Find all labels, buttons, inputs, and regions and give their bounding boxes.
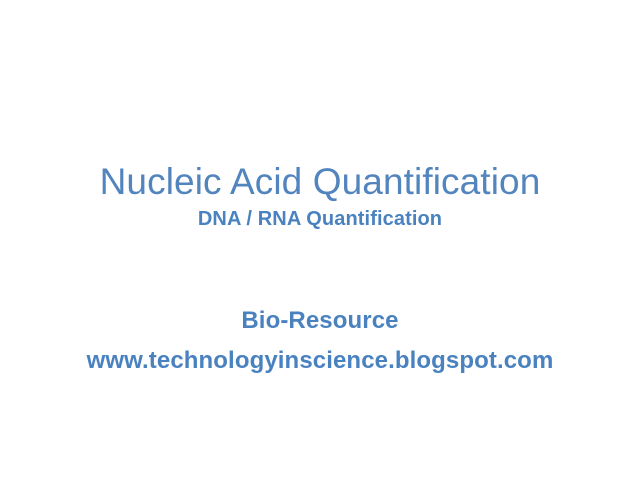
credit-block: Bio-Resource www.technologyinscience.blo…	[0, 305, 640, 377]
page-subtitle: DNA / RNA Quantification	[0, 206, 640, 232]
page-title: Nucleic Acid Quantification	[0, 160, 640, 204]
credit-source-name: Bio-Resource	[0, 305, 640, 337]
credit-source-url: www.technologyinscience.blogspot.com	[0, 345, 640, 377]
title-block: Nucleic Acid Quantification DNA / RNA Qu…	[0, 160, 640, 232]
presentation-slide: Nucleic Acid Quantification DNA / RNA Qu…	[0, 0, 640, 480]
